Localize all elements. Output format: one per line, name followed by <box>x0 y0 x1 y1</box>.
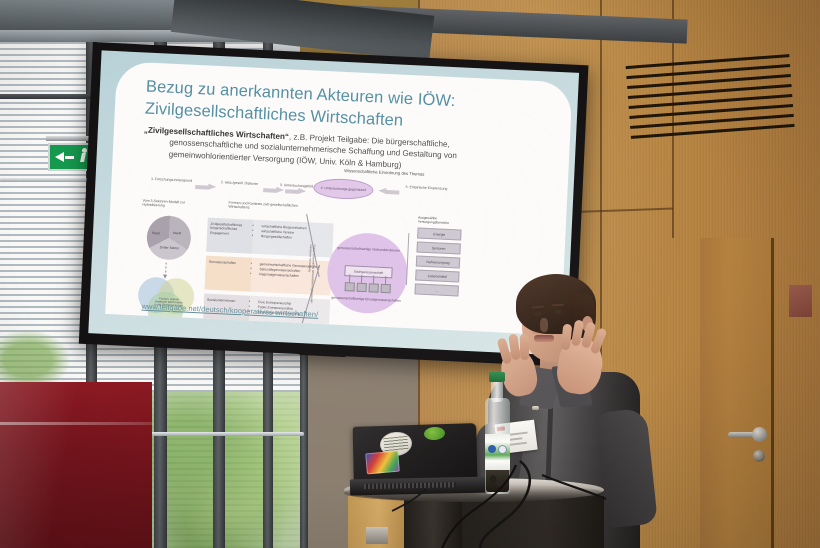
sector-box-lebensmittel: Lebensmittel <box>415 269 459 282</box>
downward-arrow-icon <box>165 263 167 275</box>
speaker-mouth <box>534 335 554 342</box>
arrow-right-icon <box>195 183 217 191</box>
sector-box-senioren: Senioren <box>416 241 460 254</box>
door-edge <box>771 238 774 548</box>
arrow-right-icon <box>285 187 307 195</box>
speaker-eye-right <box>554 310 562 314</box>
arrow-left-icon <box>377 188 399 196</box>
bottle-cap <box>489 372 505 382</box>
sector-box-energie: Energie <box>417 227 461 240</box>
podium-column <box>404 496 462 548</box>
circle-node <box>369 283 379 292</box>
left-arrow-icon <box>55 152 64 162</box>
ventilation-grille-icon <box>625 50 794 140</box>
door-sign-plaque <box>789 285 812 317</box>
finger <box>520 334 530 360</box>
colorful-rectangular-sticker <box>365 451 400 475</box>
sector-box-more: ... <box>414 283 458 296</box>
diagram-focus-ellipse: 4. Untersuchungs-gegenstand <box>313 178 374 201</box>
diagram-step-1: 1. Forschungs-hintergrund <box>150 177 194 183</box>
bottle-neck <box>491 380 503 402</box>
speaker-arm-right <box>596 408 658 529</box>
band-label: Zivilgesellschaftliches bürgerschaftlich… <box>206 218 254 254</box>
circle-node <box>345 282 355 291</box>
laptop-base[interactable] <box>350 477 488 496</box>
circle-node <box>357 283 367 292</box>
circle-bottom-label: genossenschaftsartige Einzelgenossenscha… <box>326 295 406 303</box>
arrow-tail <box>65 156 74 159</box>
conference-photo-scene: Bezug zu anerkannten Akteuren wie IÖW: Z… <box>0 0 820 548</box>
diagram-step-2: 2. wiss./gesell. Diskurse <box>217 180 261 186</box>
sector-box-nahversorgung: Nahversorgung <box>416 255 460 268</box>
door-lock-icon[interactable] <box>753 450 765 462</box>
door-handle-rose-icon <box>752 427 767 442</box>
finger-ring <box>532 406 539 410</box>
window-rail <box>148 432 304 436</box>
diagram-main-circle: genossenschaftsartige Verbundstrukturen … <box>326 231 410 315</box>
right-section-title: Ausgewählte Versorgungsbereiche <box>418 216 464 226</box>
water-bottle[interactable] <box>484 372 511 494</box>
pie-label-dritter-sektor: Dritter Sektor <box>158 245 180 250</box>
speaker-eye-left <box>534 312 542 316</box>
circle-top-label: genossenschaftsartige Verbundstrukturen <box>328 245 408 253</box>
three-sector-pie-chart: Staat Markt Dritter Sektor <box>146 215 192 261</box>
bottle-base-shadow <box>486 470 509 492</box>
bottle-label <box>485 434 510 470</box>
podium-shadow-side <box>462 496 604 548</box>
band-label: Genossenschaften <box>204 256 252 292</box>
diagram-step-5: 5. Empirische Eingrenzung <box>401 185 451 192</box>
speaker-nose <box>540 318 548 332</box>
room-door[interactable] <box>700 238 772 548</box>
red-partition-gloss <box>0 382 152 548</box>
diagram-left-note: Vom 3-Sektoren-Modell zur Hybridisierung <box>142 199 200 210</box>
podium-floor-plate <box>366 527 388 544</box>
pie-label-markt: Markt <box>173 231 181 235</box>
circle-node <box>381 284 391 293</box>
outdoor-foliage <box>0 330 70 390</box>
pie-label-staat: Staat <box>152 231 160 235</box>
diagram-middle-note: Formen und Kontexte zivil-gesellschaftli… <box>228 201 304 213</box>
